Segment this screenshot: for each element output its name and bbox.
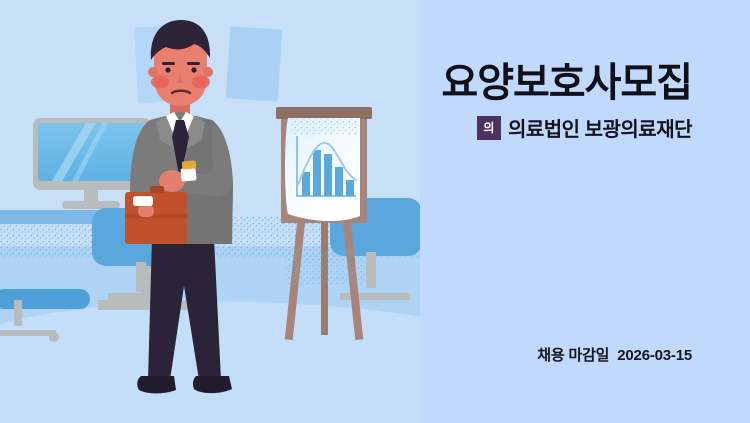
deadline-date: 2026-03-15 — [617, 347, 692, 364]
organization-badge: 의 — [477, 116, 501, 140]
page-title: 요양보호사모집 — [272, 62, 692, 104]
poster-text-panel: 요양보호사모집 의 의료법인 보광의료재단 — [272, 62, 692, 142]
organization-name: 의료법인 보광의료재단 — [508, 113, 692, 142]
organization-row: 의 의료법인 보광의료재단 — [272, 113, 692, 142]
deadline-text: 채용 마감일2026-03-15 — [537, 344, 692, 365]
briefcase — [125, 186, 187, 244]
character-head — [148, 20, 213, 106]
deadline-label: 채용 마감일 — [537, 347, 609, 364]
recruitment-poster: 요양보호사모집 의 의료법인 보광의료재단 채용 마감일2026-03-15 — [0, 0, 750, 423]
